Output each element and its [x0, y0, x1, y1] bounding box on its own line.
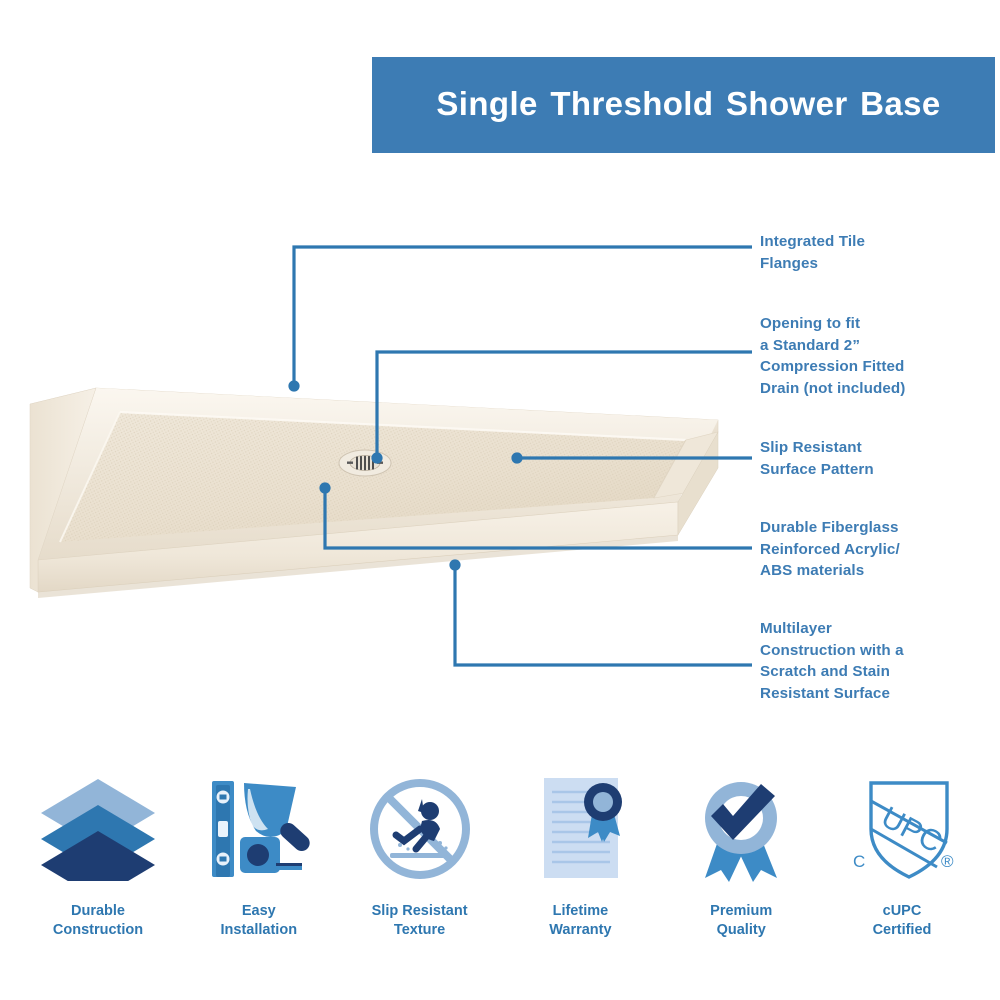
callout-anchor-drain — [371, 452, 382, 463]
feature-slip-resistant-texture: Slip Resistant Texture — [344, 770, 496, 940]
feature-easy-installation: Easy Installation — [183, 770, 335, 940]
cupc-left-mark: C — [853, 852, 865, 871]
callout-multilayer-construction: Multilayer Construction with a Scratch a… — [760, 618, 904, 704]
callout-anchor-surface — [511, 452, 522, 463]
callout-drain-opening: Opening to fit a Standard 2” Compression… — [760, 313, 905, 399]
product-infographic: Single Threshold Shower Base — [0, 0, 1000, 1000]
callout-anchor-materials — [319, 482, 330, 493]
feature-lifetime-warranty: Lifetime Warranty — [504, 770, 656, 940]
cupc-right-mark: ® — [941, 852, 954, 871]
cupc-shield-icon: UPC C ® — [843, 770, 961, 888]
feature-caption: Durable Construction — [53, 902, 143, 940]
layers-icon — [39, 770, 157, 888]
no-slip-icon — [364, 770, 476, 888]
feature-caption: Slip Resistant Texture — [372, 902, 468, 940]
feature-durable-construction: Durable Construction — [22, 770, 174, 940]
ribbon-check-icon — [689, 770, 793, 888]
feature-caption: cUPC Certified — [873, 902, 932, 940]
callout-slip-resistant-surface-pattern: Slip Resistant Surface Pattern — [760, 437, 874, 480]
feature-caption: Lifetime Warranty — [549, 902, 611, 940]
callout-durable-materials: Durable Fiberglass Reinforced Acrylic/ A… — [760, 517, 900, 582]
feature-caption: Easy Installation — [221, 902, 298, 940]
trowel-level-icon — [200, 770, 318, 888]
feature-strip: Durable Construction — [0, 770, 1000, 980]
callout-anchor-multilayer — [449, 559, 460, 570]
feature-premium-quality: Premium Quality — [665, 770, 817, 940]
feature-cupc-certified: UPC C ® cUPC Certified — [826, 770, 978, 940]
feature-caption: Premium Quality — [710, 902, 772, 940]
callout-integrated-tile-flanges: Integrated Tile Flanges — [760, 231, 865, 274]
callout-anchor-flanges — [288, 380, 299, 391]
warranty-doc-icon — [530, 770, 630, 888]
